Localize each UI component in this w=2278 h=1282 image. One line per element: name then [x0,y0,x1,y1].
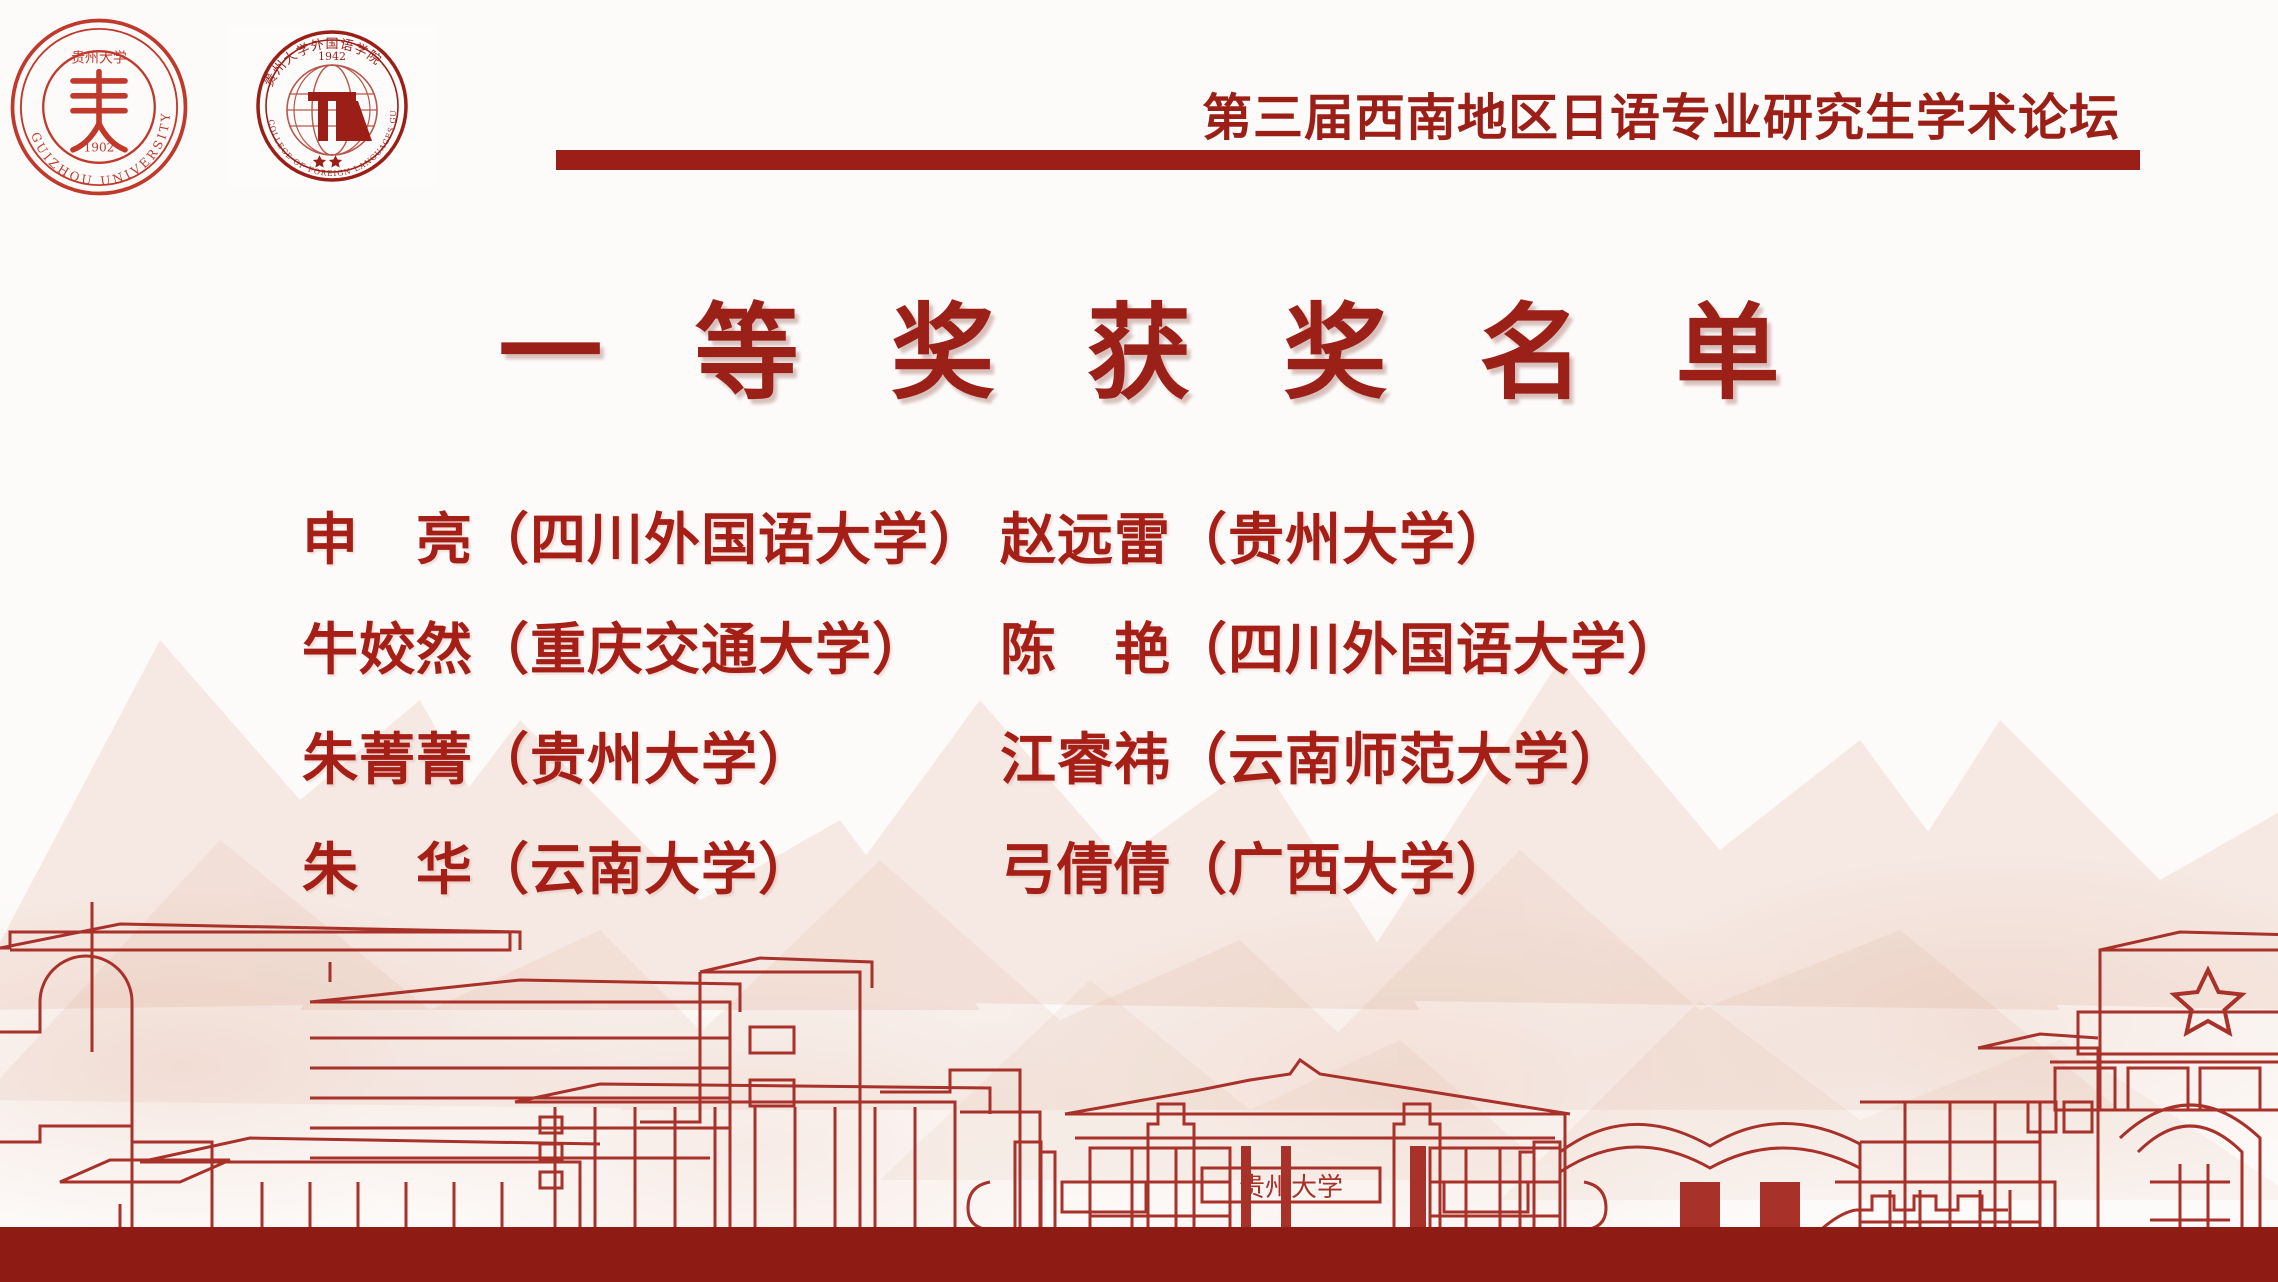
table-row: 牛姣然（重庆交通大学） 陈 艳（四川外国语大学） [0,590,2278,700]
slide-header: 贵州大学 1902 GUIZHOU UNIVERSITY [0,0,2278,200]
awardee-left: 牛姣然（重庆交通大学） [0,605,1000,686]
svg-text:贵州大学: 贵州大学 [71,50,127,66]
bottom-accent-bar [0,1227,2278,1282]
svg-text:1902: 1902 [84,141,115,155]
campus-skyline-illustration: 贵州大学 [0,852,2278,1282]
table-row: 朱菁菁（贵州大学） 江睿祎（云南师范大学） [0,700,2278,810]
awardee-right: 陈 艳（四川外国语大学） [1000,605,1900,686]
page-title: 一 等 奖 获 奖 名 单 [0,268,2278,419]
gate-inscription: 贵州大学 [1239,1173,1343,1203]
awardee-right: 赵远雷（贵州大学） [1000,495,1900,576]
table-row: 申 亮（四川外国语大学） 赵远雷（贵州大学） [0,480,2278,590]
awardee-left: 朱菁菁（贵州大学） [0,715,1000,796]
college-of-foreign-languages-logo: 1942 贵州大学外国语学院 COLLEGE OF FOREIGN LANGUA… [228,26,436,186]
awardee-right: 江睿祎（云南师范大学） [1000,715,1900,796]
slide-root: 贵州大学 1902 GUIZHOU UNIVERSITY [0,0,2278,1282]
header-accent-bar [556,150,2140,170]
svg-text:贵州大学外国语学院: 贵州大学外国语学院 [262,37,384,90]
awardee-left: 申 亮（四川外国语大学） [0,495,1000,576]
guizhou-university-logo: 贵州大学 1902 GUIZHOU UNIVERSITY [6,14,192,200]
forum-title: 第三届西南地区日语专业研究生学术论坛 [1202,78,2120,150]
